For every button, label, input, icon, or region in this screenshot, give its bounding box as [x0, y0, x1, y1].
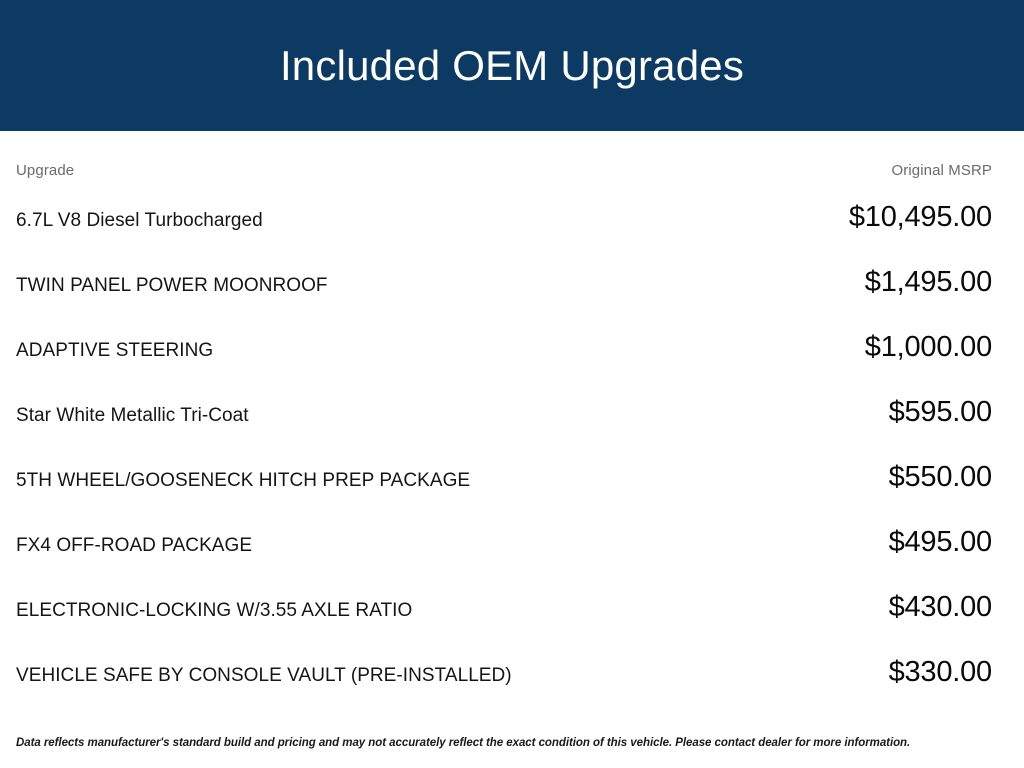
upgrade-price: $1,000.00: [865, 331, 992, 364]
upgrade-price: $595.00: [889, 396, 992, 429]
upgrade-price: $330.00: [889, 656, 992, 689]
upgrade-price: $495.00: [889, 526, 992, 559]
table-row: 6.7L V8 Diesel Turbocharged $10,495.00: [16, 191, 992, 256]
oem-upgrades-page: Included OEM Upgrades Upgrade Original M…: [0, 0, 1024, 768]
upgrade-name: 5TH WHEEL/GOOSENECK HITCH PREP PACKAGE: [16, 470, 470, 492]
disclaimer-text: Data reflects manufacturer's standard bu…: [0, 731, 1024, 749]
table-row: ADAPTIVE STEERING $1,000.00: [16, 321, 992, 386]
table-row: ELECTRONIC-LOCKING W/3.55 AXLE RATIO $43…: [16, 581, 992, 646]
table-row: 5TH WHEEL/GOOSENECK HITCH PREP PACKAGE $…: [16, 451, 992, 516]
upgrade-price: $550.00: [889, 461, 992, 494]
upgrade-name: FX4 OFF-ROAD PACKAGE: [16, 535, 252, 557]
column-header-upgrade: Upgrade: [16, 162, 74, 179]
upgrade-price: $1,495.00: [865, 266, 992, 299]
page-title: Included OEM Upgrades: [280, 45, 744, 87]
upgrade-price: $10,495.00: [849, 201, 992, 234]
upgrade-name: ADAPTIVE STEERING: [16, 340, 213, 362]
table-row: TWIN PANEL POWER MOONROOF $1,495.00: [16, 256, 992, 321]
upgrade-price: $430.00: [889, 591, 992, 624]
table-row: FX4 OFF-ROAD PACKAGE $495.00: [16, 516, 992, 581]
page-header-banner: Included OEM Upgrades: [0, 0, 1024, 131]
upgrade-name: Star White Metallic Tri-Coat: [16, 405, 249, 427]
column-header-msrp: Original MSRP: [892, 162, 993, 179]
upgrade-name: VEHICLE SAFE BY CONSOLE VAULT (PRE-INSTA…: [16, 665, 512, 687]
upgrade-name: TWIN PANEL POWER MOONROOF: [16, 275, 328, 297]
table-header-row: Upgrade Original MSRP: [16, 131, 992, 179]
upgrades-table: Upgrade Original MSRP 6.7L V8 Diesel Tur…: [0, 131, 1024, 731]
table-row: Star White Metallic Tri-Coat $595.00: [16, 386, 992, 451]
table-body: 6.7L V8 Diesel Turbocharged $10,495.00 T…: [16, 191, 992, 711]
bottom-spacer: [0, 749, 1024, 768]
upgrade-name: ELECTRONIC-LOCKING W/3.55 AXLE RATIO: [16, 600, 412, 622]
table-row: VEHICLE SAFE BY CONSOLE VAULT (PRE-INSTA…: [16, 646, 992, 711]
upgrade-name: 6.7L V8 Diesel Turbocharged: [16, 210, 263, 232]
